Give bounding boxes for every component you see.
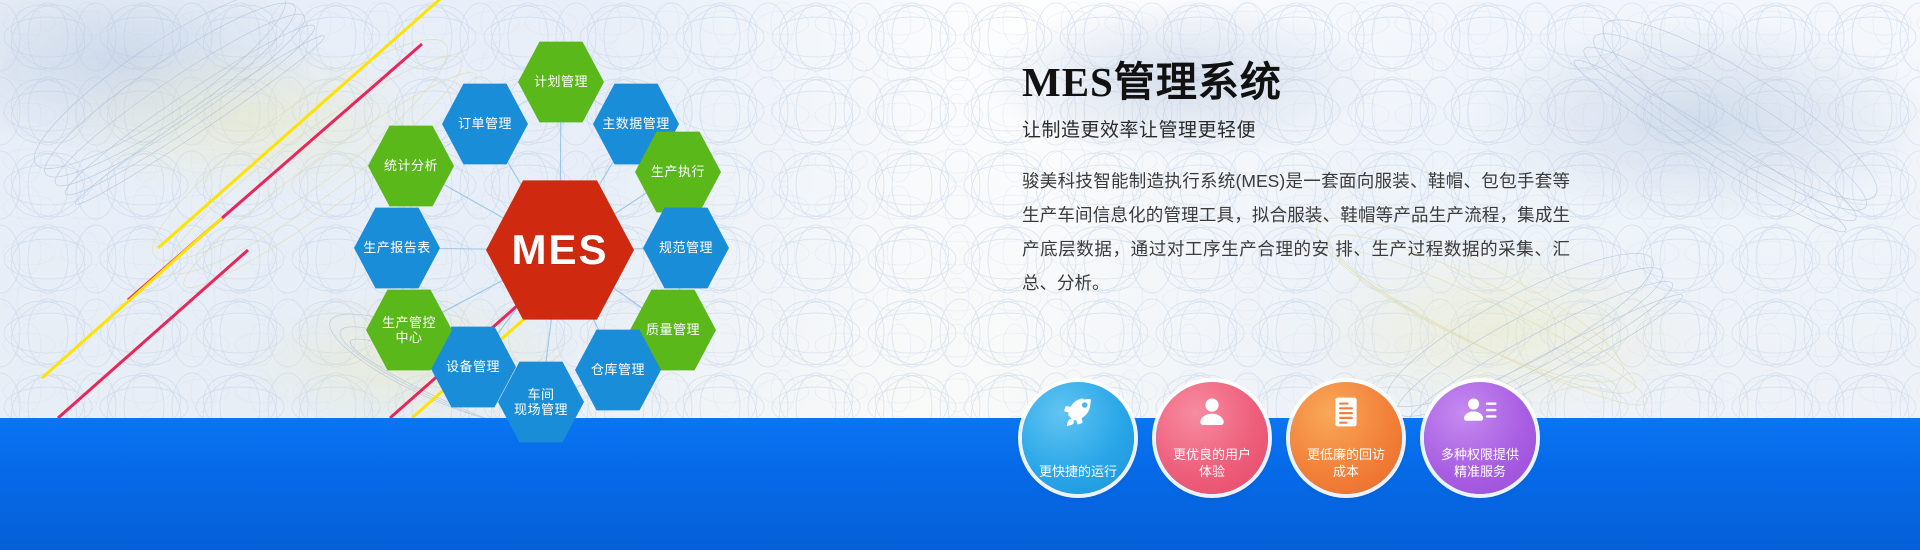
- diagram-node-label: 规范管理: [653, 240, 719, 255]
- diagram-node-label: 质量管理: [640, 322, 706, 337]
- feature-badge-1[interactable]: 更快捷的运行: [1022, 382, 1134, 494]
- rocket-icon: [1061, 395, 1095, 429]
- mes-module-diagram: 计划管理主数据管理生产执行规范管理质量管理仓库管理车间现场管理设备管理生产管控中…: [330, 20, 790, 430]
- diagram-node-label: 统计分析: [378, 158, 444, 173]
- diagram-node-label: 计划管理: [528, 74, 594, 89]
- diagram-node-label: 生产报告表: [357, 240, 437, 255]
- diagram-core-label: MES: [505, 225, 614, 275]
- document-icon: [1329, 395, 1363, 429]
- feature-badge-label: 多种权限提供精准服务: [1434, 447, 1526, 481]
- feature-badge-label: 更快捷的运行: [1032, 464, 1124, 481]
- diagram-node-label: 订单管理: [452, 116, 518, 131]
- diagram-node-label: 生产执行: [645, 164, 711, 179]
- diagram-node-label: 仓库管理: [585, 362, 651, 377]
- bottom-blue-band: [0, 418, 1920, 550]
- diagram-node-label: 车间现场管理: [508, 387, 574, 418]
- page-paragraph: 骏美科技智能制造执行系统(MES)是一套面向服装、鞋帽、包包手套等生产车间信息化…: [1022, 164, 1570, 301]
- user-icon: [1195, 395, 1229, 429]
- feature-badge-4[interactable]: 多种权限提供精准服务: [1424, 382, 1536, 494]
- feature-badge-label: 更低廉的回访成本: [1300, 447, 1392, 481]
- feature-badge-3[interactable]: 更低廉的回访成本: [1290, 382, 1402, 494]
- page-subtitle: 让制造更效率让管理更轻便: [1022, 115, 1582, 142]
- copy-block: MES管理系统 让制造更效率让管理更轻便 骏美科技智能制造执行系统(MES)是一…: [1022, 60, 1582, 301]
- user-list-icon: [1463, 395, 1497, 429]
- banner-stage: 计划管理主数据管理生产执行规范管理质量管理仓库管理车间现场管理设备管理生产管控中…: [0, 0, 1920, 550]
- feature-badge-2[interactable]: 更优良的用户体验: [1156, 382, 1268, 494]
- page-title: MES管理系统: [1022, 60, 1582, 105]
- diagram-node-label: 生产管控中心: [376, 315, 442, 346]
- diagram-node-label: 设备管理: [440, 359, 506, 374]
- feature-badge-label: 更优良的用户体验: [1166, 447, 1258, 481]
- diagram-node-label: 主数据管理: [596, 116, 676, 131]
- feature-badge-row: 更快捷的运行更优良的用户体验更低廉的回访成本多种权限提供精准服务: [1022, 382, 1536, 494]
